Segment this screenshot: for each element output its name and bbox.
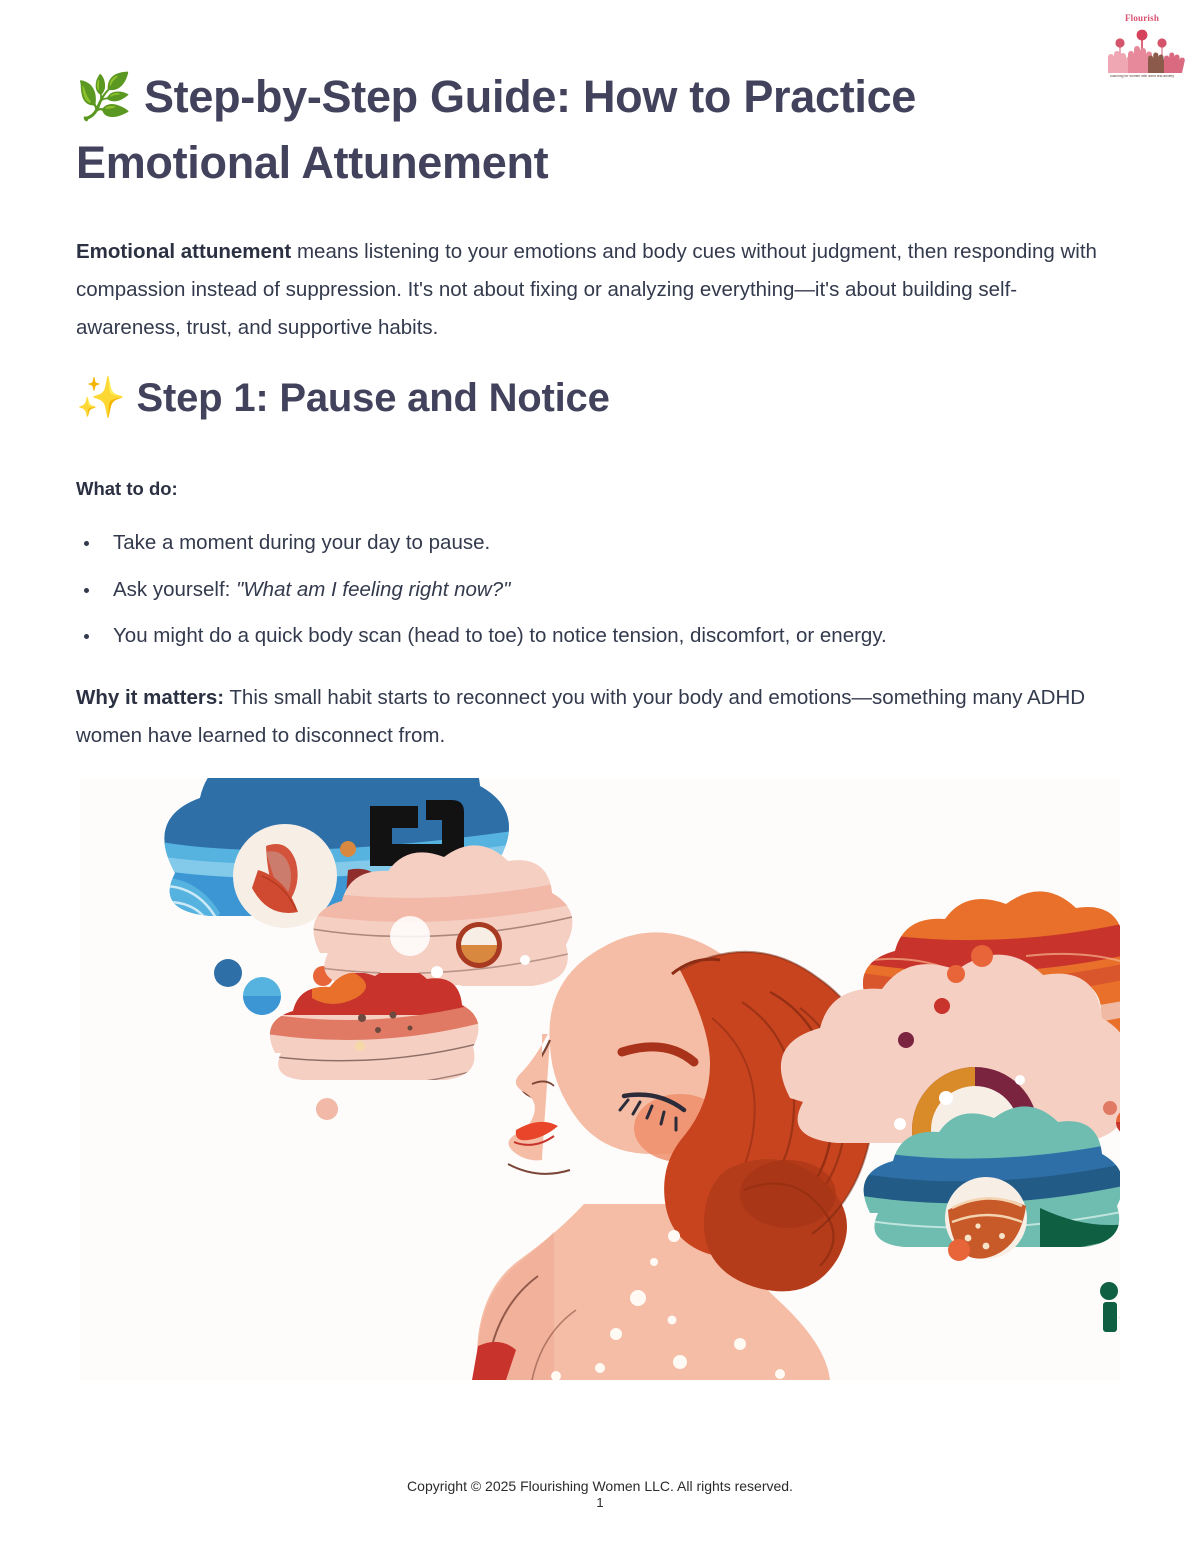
list-item: You might do a quick body scan (head to … bbox=[76, 623, 1106, 650]
why-it-matters-label: Why it matters: bbox=[76, 686, 224, 709]
sparkles-emoji: ✨ bbox=[76, 375, 126, 421]
herb-leaf-emoji: 🌿 bbox=[76, 70, 132, 123]
what-to-do-list: Take a moment during your day to pause. … bbox=[76, 530, 1106, 670]
flourish-logo: Flourish coaching for women with adhd an… bbox=[1098, 8, 1186, 88]
why-it-matters-text: This small habit starts to reconnect you… bbox=[76, 686, 1085, 747]
logo-tagline: coaching for women with adhd and anxiety bbox=[1098, 75, 1186, 79]
list-item: Take a moment during your day to pause. bbox=[76, 530, 1106, 557]
step-heading: ✨ Step 1: Pause and Notice bbox=[76, 372, 976, 424]
intro-paragraph: Emotional attunement means listening to … bbox=[76, 233, 1106, 347]
why-it-matters-paragraph: Why it matters: This small habit starts … bbox=[76, 679, 1106, 755]
list-item-text: Ask yourself: bbox=[113, 578, 236, 601]
page-title: 🌿 Step-by-Step Guide: How to Practice Em… bbox=[76, 64, 976, 195]
intro-lead-term: Emotional attunement bbox=[76, 240, 291, 263]
copyright-footer: Copyright © 2025 Flourishing Women LLC. … bbox=[0, 1478, 1200, 1494]
page-title-text: Step-by-Step Guide: How to Practice Emot… bbox=[76, 71, 916, 188]
raised-hands-with-flowers-icon bbox=[1098, 25, 1186, 75]
document-page: Flourish coaching for women with adhd an… bbox=[0, 0, 1200, 1553]
what-to-do-label: What to do: bbox=[76, 478, 178, 500]
page-number: 1 bbox=[0, 1495, 1200, 1510]
list-item-quote: "What am I feeling right now?" bbox=[236, 578, 510, 601]
list-item: Ask yourself: "What am I feeling right n… bbox=[76, 577, 1106, 604]
list-item-text: You might do a quick body scan (head to … bbox=[113, 624, 887, 647]
step-heading-text: Step 1: Pause and Notice bbox=[137, 376, 610, 420]
logo-wordmark: Flourish bbox=[1098, 14, 1186, 23]
list-item-text: Take a moment during your day to pause. bbox=[113, 531, 490, 554]
woman-profile-with-thought-bubbles-illustration bbox=[80, 778, 1120, 1380]
